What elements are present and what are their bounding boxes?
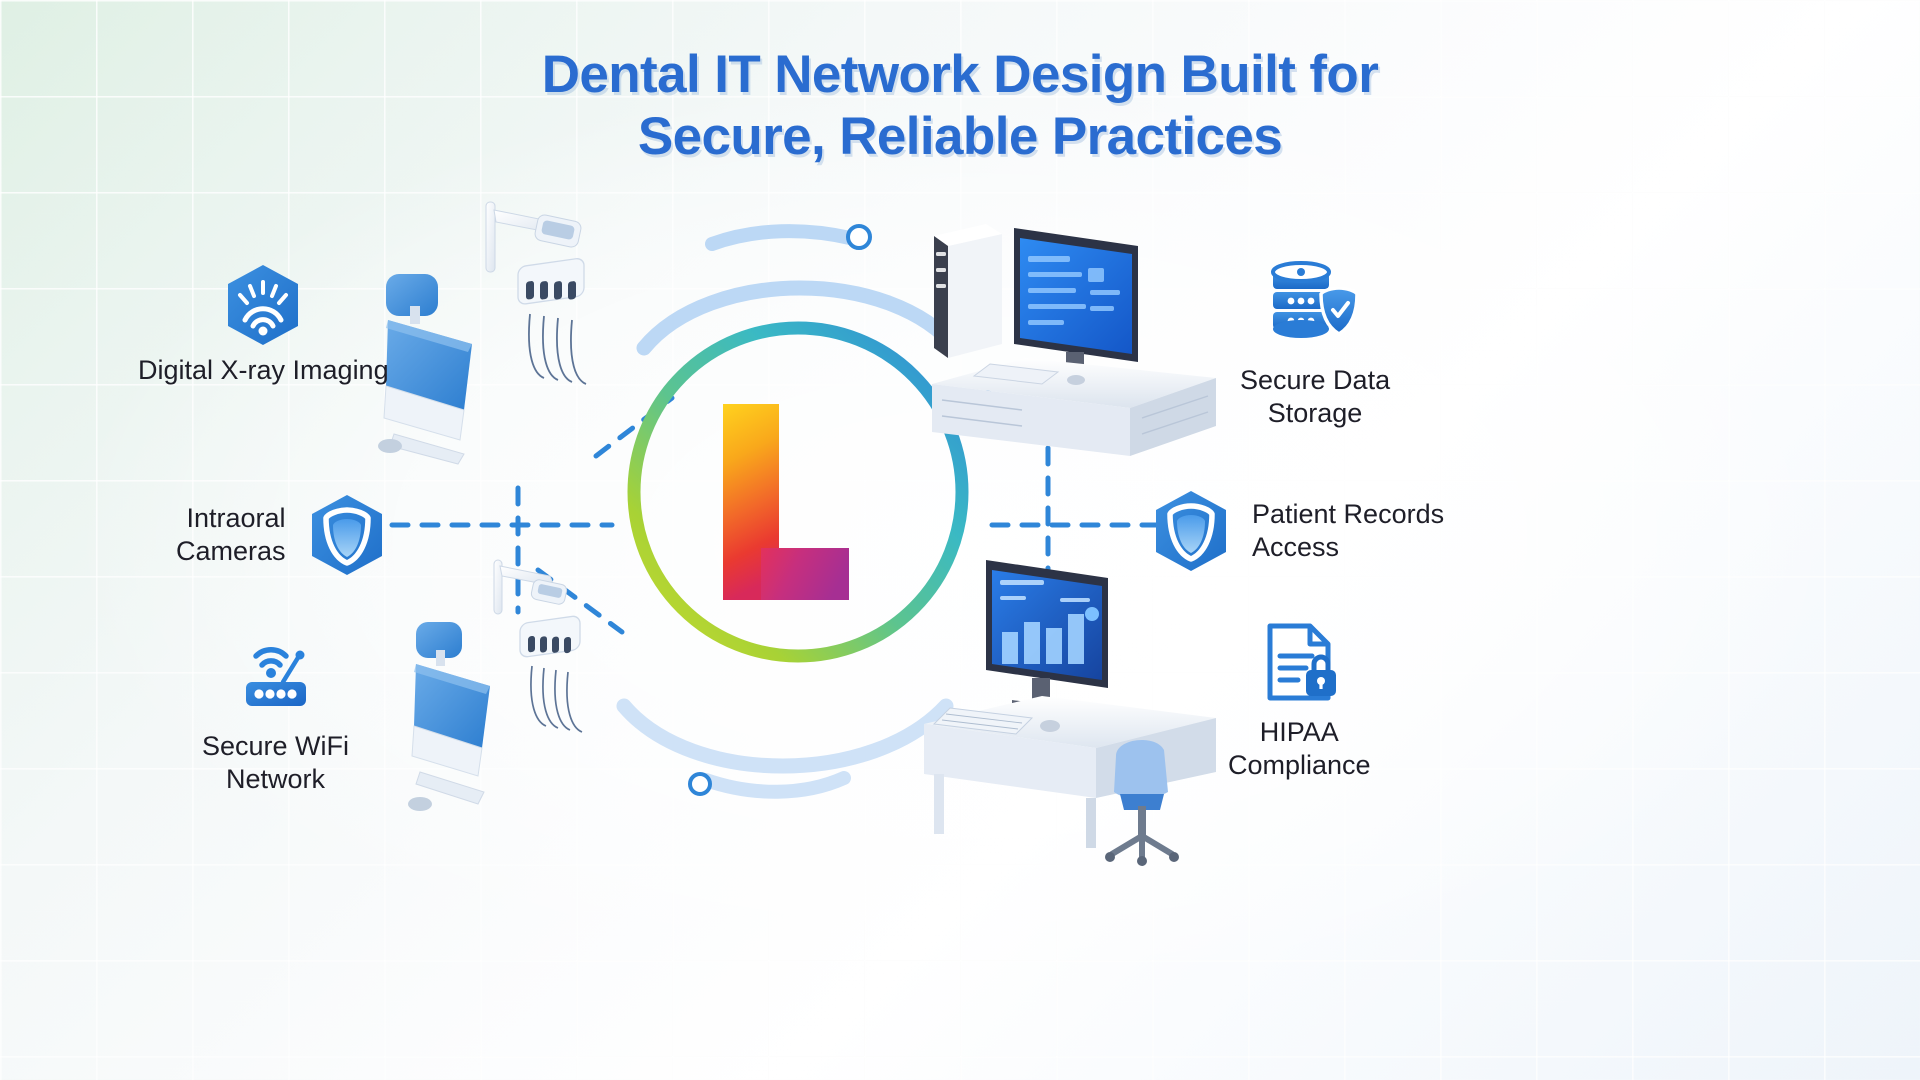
feature-secure-wifi-network[interactable]: Secure WiFi Network (202, 634, 349, 796)
decorative-arc-bottom-inner (700, 770, 850, 800)
wifi-router-icon (233, 634, 319, 720)
decorative-circle-bottom-left (688, 772, 712, 796)
feature-label-secure-wifi-network: Secure WiFi Network (202, 730, 349, 796)
dental-chair-illustration-top (368, 196, 628, 466)
feature-secure-data-storage[interactable]: Secure Data Storage (1240, 252, 1390, 430)
feature-patient-records-access[interactable]: Patient Records Access (1148, 488, 1444, 574)
feature-label-digital-xray-imaging: Digital X-ray Imaging (138, 354, 389, 387)
title-line-2: Secure, Reliable Practices (0, 106, 1920, 168)
decorative-arc-bottom-outer (620, 700, 950, 790)
dental-chair-illustration-bottom (390, 556, 640, 836)
reception-desk-illustration (920, 548, 1220, 868)
desktop-workstation-illustration (930, 212, 1218, 482)
feature-label-intraoral-cameras: Intraoral Cameras (176, 502, 286, 568)
feature-label-secure-data-storage: Secure Data Storage (1240, 364, 1390, 430)
document-lock-icon (1256, 620, 1342, 706)
feature-intraoral-cameras[interactable]: Intraoral Cameras (176, 492, 390, 578)
feature-hipaa-compliance[interactable]: HIPAA Compliance (1228, 620, 1371, 782)
decorative-circle-top-right (846, 224, 872, 250)
xray-hexagon-icon (220, 262, 306, 348)
brand-logo (717, 402, 853, 602)
database-shield-icon (1263, 252, 1367, 356)
decorative-arc-top-inner (706, 222, 856, 252)
shield-hexagon-icon (304, 492, 390, 578)
feature-digital-xray-imaging[interactable]: Digital X-ray Imaging (138, 262, 389, 387)
shield-hexagon-icon (1148, 488, 1234, 574)
page-title: Dental IT Network Design Built for Secur… (0, 44, 1920, 168)
title-line-1: Dental IT Network Design Built for (0, 44, 1920, 106)
feature-label-patient-records-access: Patient Records Access (1252, 498, 1444, 564)
feature-label-hipaa-compliance: HIPAA Compliance (1228, 716, 1371, 782)
